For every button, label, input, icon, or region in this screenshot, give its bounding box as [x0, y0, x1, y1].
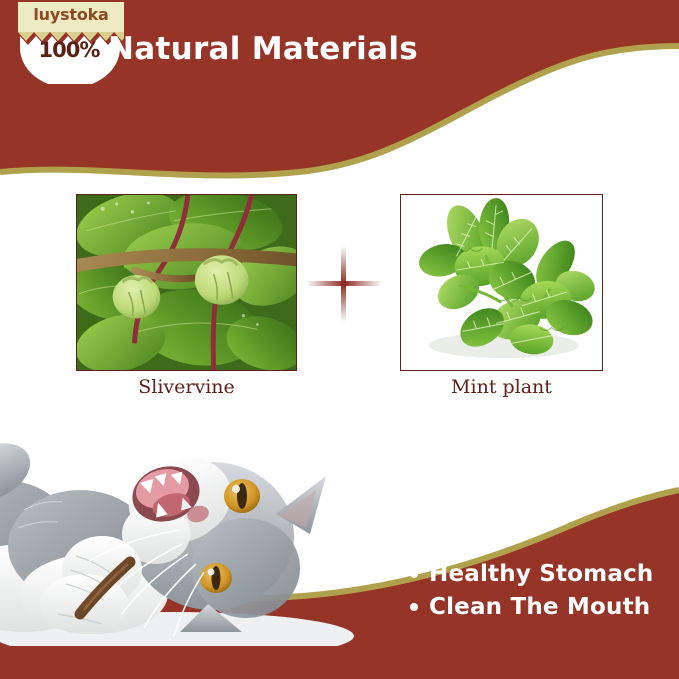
product-feature-poster: luystoka 100% Natural Materials [0, 0, 679, 679]
caption-silvervine: Slivervine [76, 378, 297, 397]
bullet-dot-icon [410, 603, 418, 611]
benefit-label: Clean The Mouth [429, 595, 650, 619]
ingredient-panel-silvervine [76, 194, 297, 371]
caption-mint: Mint plant [400, 378, 603, 397]
brand-badge: luystoka 100% [18, 2, 124, 84]
page-title: Natural Materials [108, 34, 418, 65]
benefits-list: Healthy Stomach Clean The Mouth [410, 562, 670, 628]
plus-combiner-icon [306, 246, 382, 322]
list-item: Clean The Mouth [410, 595, 670, 619]
silvervine-plant-photo [77, 195, 296, 370]
list-item: Healthy Stomach [410, 562, 670, 586]
badge-brand-name: luystoka [18, 7, 124, 23]
badge-percent-label: 100% [18, 40, 120, 61]
ingredient-panel-mint [400, 194, 603, 371]
mint-leaves-photo [401, 195, 602, 370]
cat-chewing-stick-photo [0, 418, 384, 646]
bullet-dot-icon [410, 570, 418, 578]
benefit-label: Healthy Stomach [429, 562, 653, 586]
